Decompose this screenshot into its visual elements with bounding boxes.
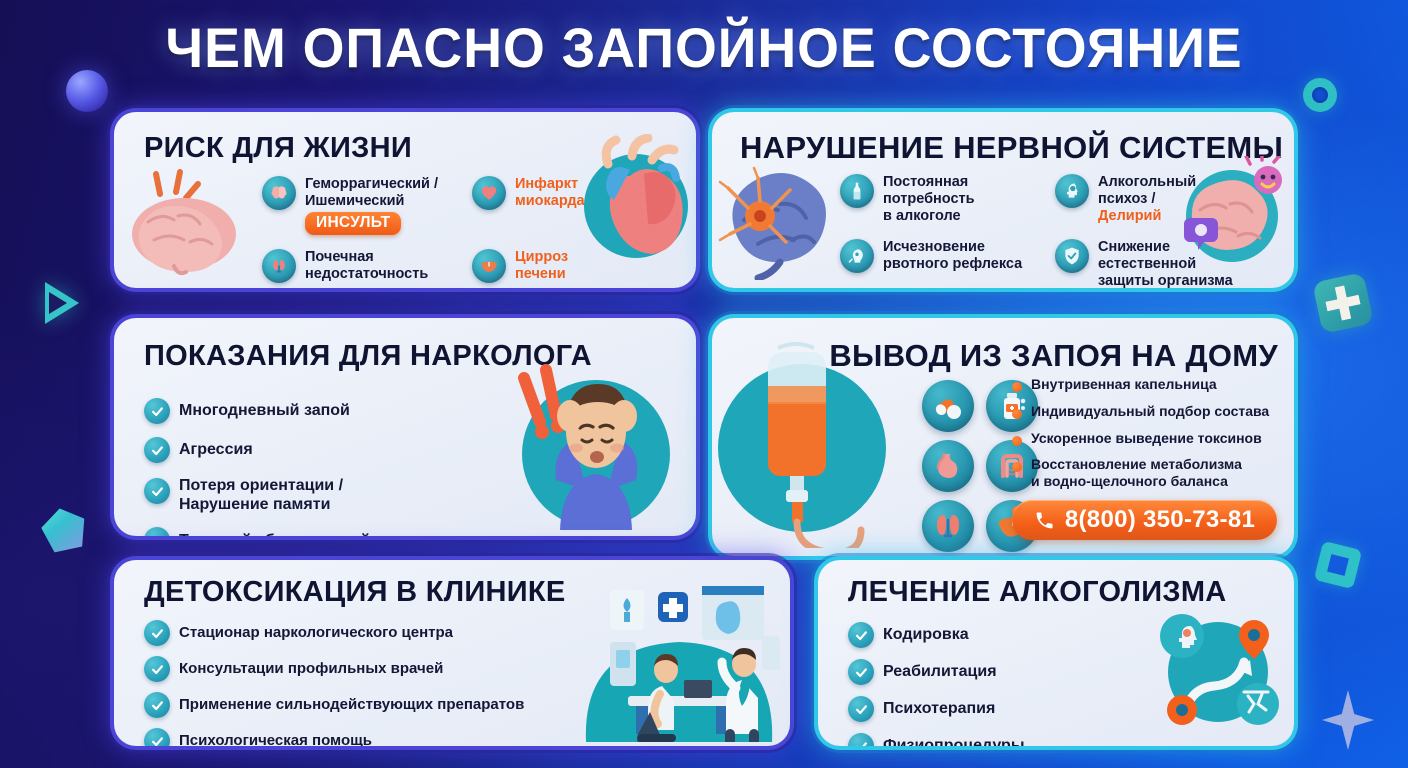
detox-benefit-label-l1: Восстановление метаболизма: [1031, 456, 1242, 472]
phone-number: 8(800) 350-73-81: [1065, 506, 1255, 534]
detox-benefit-item: Ускоренное выведение токсинов: [1012, 430, 1284, 447]
treatment-item-label: Физиопроцедуры: [883, 736, 1024, 746]
clinic-service-item: Психологическая помощь: [144, 728, 524, 746]
risk-item-kidney-l2: недостаточность: [305, 266, 428, 282]
decor-sphere-icon: [66, 70, 108, 112]
detox-benefit-item: Внутривенная капельница: [1012, 376, 1284, 393]
brain-icon: [262, 176, 296, 210]
phone-icon: [1034, 510, 1055, 531]
risk-item-infarction-l2: миокарда: [515, 193, 585, 209]
check-icon: [848, 659, 874, 685]
risk-item-infarction-l1: Инфаркт: [515, 176, 578, 192]
bottle-icon: [840, 174, 874, 208]
detox-benefit-label-l2: и водно-щелочного баланса: [1031, 473, 1228, 489]
bullet-dot-icon: [1012, 382, 1022, 392]
indication-item: Агрессия: [144, 437, 444, 463]
risk-item-kidney-l1: Почечная: [305, 249, 374, 265]
nervous-item-craving-l2: потребность: [883, 191, 975, 207]
risk-item-infarction: Инфаркт миокарда: [472, 176, 652, 235]
decor-sparkle-icon: [1322, 690, 1374, 750]
card-alcoholism-treatment: ЛЕЧЕНИЕ АЛКОГОЛИЗМА Кодировка Реабилитац…: [818, 560, 1294, 746]
kidney-icon: [262, 249, 296, 283]
treatment-item: Кодировка: [848, 622, 1024, 648]
clinic-service-label: Психологическая помощь: [179, 732, 372, 746]
risk-item-stroke-l1: Геморрагический /: [305, 176, 438, 192]
risk-item-stroke-l2: Ишемический: [305, 193, 404, 209]
risk-item-stroke: Геморрагический / Ишемический ИНСУЛЬТ: [262, 176, 472, 235]
indication-item-label-l1: Потеря ориентации /: [179, 477, 343, 494]
indication-item-label: Тяжелый абстинентный синдром: [179, 531, 444, 536]
phone-call-button[interactable]: 8(800) 350-73-81: [1012, 500, 1277, 540]
check-icon: [144, 620, 170, 646]
check-icon: [144, 656, 170, 682]
card-clinic-detox-title: ДЕТОКСИКАЦИЯ В КЛИНИКЕ: [144, 578, 566, 607]
card-clinic-detox: ДЕТОКСИКАЦИЯ В КЛИНИКЕ: [114, 560, 790, 746]
status-badge-stroke: ИНСУЛЬТ: [305, 212, 401, 235]
page-title: ЧЕМ ОПАСНО ЗАПОЙНОЕ СОСТОЯНИЕ: [28, 20, 1380, 76]
shield-check-icon: [1055, 239, 1089, 273]
bullet-dot-icon: [1012, 462, 1022, 472]
check-icon: [848, 622, 874, 648]
check-icon: [144, 437, 170, 463]
card-risk: РИСК ДЛЯ ЖИЗНИ Геморрагически: [114, 112, 696, 288]
nervous-item-immunity: Снижение естественной защиты организма: [1055, 239, 1270, 288]
clinic-service-label: Стационар наркологического центра: [179, 624, 453, 642]
treatment-item: Психотерапия: [848, 696, 1024, 722]
treatment-item-label: Реабилитация: [883, 662, 997, 681]
risk-item-cirrhosis: Цирроз печени: [472, 249, 652, 283]
indication-item: Многодневный запой: [144, 398, 444, 424]
risk-item-cirrhosis-l1: Цирроз: [515, 249, 568, 265]
risk-item-kidney: Почечная недостаточность: [262, 249, 472, 283]
brain-illustration: [124, 166, 259, 276]
indication-item-label: Многодневный запой: [179, 401, 350, 420]
nervous-item-psychosis-l2: психоз /: [1098, 191, 1155, 207]
indication-item: Тяжелый абстинентный синдром: [144, 527, 444, 536]
treatment-item: Реабилитация: [848, 659, 1024, 685]
detox-benefit-item: Восстановление метаболизма и водно-щелоч…: [1012, 456, 1284, 490]
indication-item: Потеря ориентации / Нарушение памяти: [144, 476, 444, 514]
nervous-item-psychosis-l1: Алкогольный: [1098, 174, 1196, 190]
detox-benefit-label: Внутривенная капельница: [1031, 376, 1217, 393]
treatment-item: Физиопроцедуры: [848, 733, 1024, 746]
decor-triangle-icon: [45, 282, 79, 324]
neuron-brain-illustration: [714, 160, 852, 280]
treatment-item-label: Кодировка: [883, 625, 969, 644]
check-icon: [144, 478, 170, 504]
nervous-item-immunity-l1: Снижение естественной: [1098, 239, 1196, 272]
clinic-doctor-illustration: [566, 576, 786, 742]
card-nervous-system: НАРУШЕНИЕ НЕРВНОЙ СИСТЕМЫ Постоянная пот…: [712, 112, 1294, 288]
nervous-item-immunity-l2: защиты организма: [1098, 273, 1233, 288]
check-icon: [144, 398, 170, 424]
detox-benefit-label: Ускоренное выведение токсинов: [1031, 430, 1262, 447]
liver-icon: [472, 249, 506, 283]
check-icon: [848, 696, 874, 722]
nervous-item-craving-l1: Постоянная: [883, 174, 968, 190]
decor-square-icon: [1314, 541, 1362, 589]
clinic-service-item: Консультации профильных врачей: [144, 656, 524, 682]
clinic-service-item: Стационар наркологического центра: [144, 620, 524, 646]
check-icon: [848, 733, 874, 746]
nervous-item-craving-l3: в алкоголе: [883, 208, 961, 224]
check-icon: [144, 527, 170, 536]
treatment-item-label: Психотерапия: [883, 699, 995, 718]
nausea-icon: [840, 239, 874, 273]
stomach-icon: [922, 440, 974, 492]
card-home-detox: ВЫВОД ИЗ ЗАПОЯ НА ДОМУ: [712, 318, 1294, 556]
detox-benefit-item: Индивидуальный подбор состава: [1012, 403, 1284, 420]
iv-drip-illustration: [716, 340, 914, 548]
clinic-service-label: Применение сильнодействующих препаратов: [179, 696, 524, 714]
indication-item-label-l2: Нарушение памяти: [179, 496, 330, 513]
clinic-service-label: Консультации профильных врачей: [179, 660, 443, 678]
head-brain-icon: [1055, 174, 1089, 208]
risk-item-cirrhosis-l2: печени: [515, 266, 566, 282]
clinic-service-item: Применение сильнодействующих препаратов: [144, 692, 524, 718]
card-indications: ПОКАЗАНИЯ ДЛЯ НАРКОЛОГА Многодневный зап…: [114, 318, 696, 536]
check-icon: [144, 692, 170, 718]
nervous-item-gag-l2: рвотного рефлекса: [883, 256, 1022, 272]
check-icon: [144, 728, 170, 746]
decor-ring-icon: [1303, 78, 1337, 112]
treatment-goal-illustration: [1146, 600, 1284, 730]
pills-icon: [922, 380, 974, 432]
nervous-item-gag-reflex: Исчезновение рвотного рефлекса: [840, 239, 1055, 288]
decor-gem-icon: [38, 504, 90, 554]
heart-icon: [472, 176, 506, 210]
bullet-dot-icon: [1012, 409, 1022, 419]
indication-item-label: Агрессия: [179, 440, 253, 459]
bullet-dot-icon: [1012, 436, 1022, 446]
nervous-item-gag-l1: Исчезновение: [883, 239, 985, 255]
decor-medical-cross-icon: [1312, 272, 1374, 334]
nervous-item-craving: Постоянная потребность в алкоголе: [840, 174, 1055, 225]
nervous-item-psychosis-l3: Делирий: [1098, 208, 1161, 224]
detox-benefit-label: Индивидуальный подбор состава: [1031, 403, 1269, 420]
card-risk-title: РИСК ДЛЯ ЖИЗНИ: [144, 134, 412, 163]
kidneys-icon: [922, 500, 974, 552]
stressed-man-illustration: [494, 358, 674, 530]
nervous-item-psychosis: Алкогольный психоз / Делирий: [1055, 174, 1270, 225]
